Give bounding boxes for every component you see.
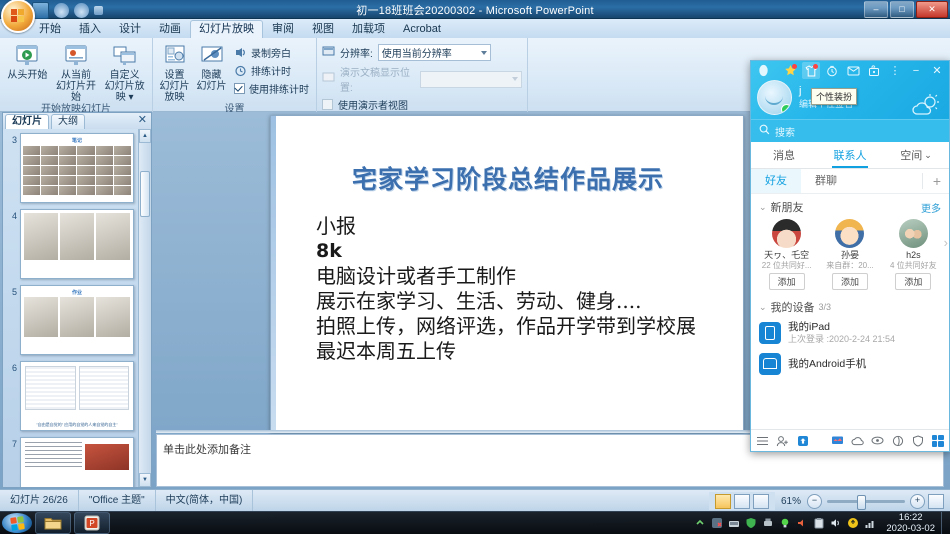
list-item[interactable]: 我的Android手机 — [751, 349, 949, 379]
tab-home[interactable]: 开始 — [30, 20, 70, 38]
from-current-label-1: 从当前 — [61, 70, 91, 81]
show-desktop-button[interactable] — [941, 512, 950, 534]
current-slide[interactable]: 宅家学习阶段总结作品展示 小报 8k 电脑设计或者手工制作 展示在家学习、生活、… — [270, 115, 744, 432]
slide-body[interactable]: 小报 8k 电脑设计或者手工制作 展示在家学习、生活、劳动、健身.... 拍照上… — [316, 214, 743, 364]
powerpoint-icon: P — [84, 515, 100, 531]
tab-design[interactable]: 设计 — [110, 20, 150, 38]
chevron-down-icon: ⌄ — [924, 150, 932, 161]
qq-header: ⋮ − ✕ j 编辑个性签名 个性装扮 — [751, 61, 949, 119]
new-friends-cards: 天ヮ、乇空 22 位共同好... 添加 孙晏 来自群：20... 添加 h2s … — [751, 217, 949, 290]
device-name: 我的iPad — [788, 321, 895, 334]
slides-pane-tabs: 幻灯片 大纲 ✕ — [3, 113, 151, 129]
reading-view-button[interactable] — [753, 494, 769, 509]
dress-up-badge — [813, 64, 818, 69]
from-current-slide-icon — [63, 44, 89, 68]
normal-view-button[interactable] — [715, 494, 731, 509]
thumb-image-row — [21, 210, 133, 263]
antivirus-icon[interactable] — [711, 517, 723, 529]
use-rehearsed-timings-checkbox[interactable] — [234, 83, 245, 94]
slide-counter[interactable]: 幻灯片 26/26 — [0, 490, 79, 512]
section-title-my-devices: 我的设备 — [771, 299, 815, 315]
tab-review[interactable]: 审阅 — [263, 20, 303, 38]
subtab-groups[interactable]: 群聊 — [801, 169, 851, 193]
cloud-icon[interactable] — [851, 434, 864, 447]
friend-name: 天ヮ、乇空 — [756, 250, 817, 261]
tab-addins[interactable]: 加载项 — [343, 20, 394, 38]
status-bar: 幻灯片 26/26 "Office 主题" 中文(简体，中国) 61% − + — [0, 489, 950, 512]
zoom-in-button[interactable]: + — [910, 494, 925, 509]
list-item[interactable]: 4 — [5, 209, 137, 279]
signal-icon[interactable] — [864, 517, 876, 529]
slide-thumbnail[interactable]: 作业 — [20, 285, 134, 355]
scroll-up-icon[interactable]: ▲ — [139, 129, 151, 143]
show-hidden-icon[interactable] — [694, 517, 706, 529]
thumb-caption: "自由是自觉的" 应用的自觉的人来自觉的自主" — [21, 422, 133, 428]
thumb-title: 笔记 — [21, 134, 133, 144]
zoom-level[interactable]: 61% — [775, 496, 807, 507]
search-input[interactable]: 搜索 — [775, 124, 795, 139]
tab-messages[interactable]: 消息 — [751, 142, 817, 168]
zoom-slider[interactable] — [827, 500, 905, 503]
rehearse-timings-icon — [234, 64, 247, 77]
menu-icon[interactable] — [756, 434, 769, 447]
game-icon[interactable] — [891, 434, 904, 447]
device-count: 3/3 — [819, 302, 832, 312]
add-friend-button[interactable]: 添加 — [895, 273, 931, 290]
chevron-down-icon: ⌄ — [759, 202, 767, 213]
show-presentation-on-label: 演示文稿显示位置: — [340, 64, 415, 94]
resolution-value: 使用当前分辨率 — [382, 45, 452, 60]
rehearse-timings-item[interactable]: 排练计时 — [234, 63, 309, 78]
slide-thumbnail[interactable] — [20, 209, 134, 279]
search-bar[interactable]: 搜索 — [751, 119, 949, 142]
add-friend-button[interactable]: 添加 — [769, 273, 805, 290]
hide-slide-icon — [199, 44, 225, 68]
gift-icon[interactable] — [865, 62, 883, 79]
rehearse-timings-label: 排练计时 — [251, 63, 291, 78]
subtab-friends[interactable]: 好友 — [751, 169, 801, 193]
pane-tab-outline[interactable]: 大纲 — [51, 114, 85, 129]
scroll-down-icon[interactable]: ▼ — [139, 473, 151, 487]
device-info: 我的Android手机 — [788, 358, 866, 371]
friend-desc: 4 位共同好友 — [883, 261, 944, 271]
add-contact-button[interactable]: + — [922, 173, 941, 189]
fit-slide-button[interactable] — [928, 494, 944, 509]
thumb-image-row — [21, 296, 133, 340]
custom-show-label-2: 幻灯片放映 ▾ — [105, 81, 145, 103]
taskbar-item-powerpoint[interactable]: P — [74, 512, 110, 534]
star-icon[interactable] — [781, 62, 799, 79]
thumb-number: 3 — [5, 133, 20, 145]
close-button[interactable]: ✕ — [916, 1, 948, 18]
svg-text:P: P — [89, 519, 94, 528]
qq-main-tabs: 消息 联系人 空间 ⌄ — [751, 142, 949, 169]
window-title: 初一18班班会20200302 - Microsoft PowerPoint — [0, 2, 950, 18]
maximize-button[interactable]: □ — [890, 1, 914, 18]
device-name: 我的Android手机 — [788, 358, 866, 371]
slide-sorter-button[interactable] — [734, 494, 750, 509]
hide-slide-button[interactable]: 隐藏 幻灯片 — [195, 42, 228, 92]
custom-show-icon — [112, 44, 138, 68]
security-icon[interactable] — [745, 517, 757, 529]
tablet-icon — [759, 322, 781, 344]
qq-titlebar: ⋮ − ✕ — [751, 61, 949, 80]
tooltip: 个性装扮 — [811, 88, 857, 105]
qq-window: ⋮ − ✕ j 编辑个性签名 个性装扮 搜索 消息 联系人 空间 ⌄ — [750, 60, 950, 452]
qq-profile[interactable]: j 编辑个性签名 个性装扮 — [751, 80, 949, 115]
from-beginning-icon — [14, 44, 40, 68]
slide-line-1: 小报 — [316, 214, 743, 239]
tab-slideshow[interactable]: 幻灯片放映 — [190, 20, 263, 38]
presenter-view-label: 使用演示者视图 — [338, 97, 408, 112]
section-header-new-friends[interactable]: ⌄ 新朋友 更多 — [751, 194, 949, 217]
slide-thumbnail-list[interactable]: 3 笔记 4 — [3, 129, 139, 487]
show-presentation-on-combo[interactable] — [420, 71, 523, 88]
avatar[interactable] — [772, 219, 801, 248]
resolution-combo[interactable]: 使用当前分辨率 — [378, 44, 491, 61]
slide-title[interactable]: 宅家学习阶段总结作品展示 — [283, 160, 733, 196]
star-badge — [792, 64, 797, 69]
chevron-down-icon-disabled — [512, 77, 518, 81]
tab-animations[interactable]: 动画 — [150, 20, 190, 38]
list-item[interactable]: 我的iPad 上次登录 :2020-2-24 21:54 — [751, 317, 949, 349]
clock-time: 16:22 — [886, 512, 935, 523]
start-from-current-button[interactable]: 从当前 幻灯片开始 — [54, 42, 99, 103]
thumb-table — [21, 362, 133, 414]
thumb-title: 作业 — [21, 286, 133, 296]
system-tray — [694, 517, 880, 529]
avatar[interactable] — [757, 80, 792, 115]
search-icon — [759, 124, 770, 138]
clock[interactable]: 16:22 2020-03-02 — [880, 512, 941, 534]
printer-icon[interactable] — [762, 517, 774, 529]
hide-slide-label-2: 幻灯片 — [197, 81, 227, 92]
list-item[interactable]: 3 笔记 — [5, 133, 137, 203]
tab-view[interactable]: 视图 — [303, 20, 343, 38]
customize-icon[interactable] — [94, 6, 103, 15]
tab-contacts[interactable]: 联系人 — [817, 142, 883, 168]
clock-icon[interactable] — [823, 62, 841, 79]
presenter-view-row[interactable]: 使用演示者视图 — [322, 97, 522, 112]
chevron-right-icon[interactable]: › — [944, 235, 948, 250]
add-friend-button[interactable]: 添加 — [832, 273, 868, 290]
slide-line-4: 展示在家学习、生活、劳动、健身.... — [316, 289, 743, 314]
thumb-number: 7 — [5, 437, 20, 449]
resolution-icon — [322, 45, 335, 61]
add-friend-icon[interactable] — [776, 434, 789, 447]
clock-date: 2020-03-02 — [886, 523, 935, 534]
resolution-row: 分辨率: 使用当前分辨率 — [322, 44, 522, 61]
setup-show-label-2: 幻灯片放映 — [160, 81, 190, 103]
record-narration-item[interactable]: 录制旁白 — [234, 45, 309, 60]
slide-thumbnail[interactable] — [20, 437, 134, 487]
tab-insert[interactable]: 插入 — [70, 20, 110, 38]
use-rehearsed-timings-label: 使用排练计时 — [249, 81, 309, 96]
thumb-number: 5 — [5, 285, 20, 297]
list-item[interactable]: 天ヮ、乇空 22 位共同好... 添加 — [755, 219, 818, 290]
thumb-number: 6 — [5, 361, 20, 373]
setup-slideshow-button[interactable]: 设置 幻灯片放映 — [158, 42, 191, 103]
volume-mute-icon[interactable] — [796, 517, 808, 529]
qq-minimize-button[interactable]: − — [907, 62, 925, 79]
network-icon[interactable] — [728, 517, 740, 529]
view-buttons — [709, 492, 775, 510]
slides-pane-scrollbar[interactable]: ▲ ▼ — [138, 129, 151, 487]
friend-name: 孙晏 — [819, 250, 880, 261]
section-title-new-friends: 新朋友 — [771, 199, 804, 215]
qq-footer — [751, 429, 949, 451]
presenter-view-checkbox[interactable] — [322, 99, 333, 110]
redo-icon[interactable] — [74, 3, 89, 18]
ribbon-group-setup: 设置 幻灯片放映 隐藏 幻灯片 录制旁白 — [152, 38, 316, 113]
slide-line-6: 最迟本周五上传 — [316, 339, 743, 364]
mail-icon[interactable] — [844, 62, 862, 79]
title-bar: 初一18班班会20200302 - Microsoft PowerPoint –… — [0, 0, 950, 19]
slide-line-5: 拍照上传，网络评选，作品开学带到学校展 — [316, 314, 743, 339]
weather-icon[interactable] — [911, 94, 941, 120]
list-item[interactable]: 6 "自由是自觉的" 应用的自觉的人来自觉的自主" — [5, 361, 137, 431]
slide-thumbnail[interactable]: "自由是自觉的" 应用的自觉的人来自觉的自主" — [20, 361, 134, 431]
ribbon-tabs: 开始 插入 设计 动画 幻灯片放映 审阅 视图 加载项 Acrobat — [0, 19, 950, 38]
theme-name[interactable]: "Office 主题" — [79, 490, 156, 512]
more-link[interactable]: 更多 — [921, 200, 941, 215]
volume-icon[interactable] — [830, 517, 842, 529]
phone-icon — [759, 353, 781, 375]
device-info: 我的iPad 上次登录 :2020-2-24 21:54 — [788, 321, 895, 345]
avatar[interactable] — [899, 219, 928, 248]
list-item[interactable]: h2s 4 位共同好友 添加 — [882, 219, 945, 290]
custom-slideshow-button[interactable]: 自定义 幻灯片放映 ▾ — [102, 42, 147, 103]
taskbar: P 16:22 2020-03-02 — [0, 511, 950, 534]
live-icon[interactable] — [831, 434, 844, 447]
use-rehearsed-timings-item[interactable]: 使用排练计时 — [234, 81, 309, 96]
ribbon-group-monitors: 分辨率: 使用当前分辨率 演示文稿显示位置: — [316, 38, 527, 113]
clipboard-icon[interactable] — [813, 517, 825, 529]
setup-show-icon — [162, 44, 188, 68]
shield-icon[interactable] — [911, 434, 924, 447]
slide-thumbnail[interactable]: 笔记 — [20, 133, 134, 203]
music-icon[interactable] — [871, 434, 884, 447]
list-item[interactable]: 孙晏 来自群：20... 添加 — [818, 219, 881, 290]
tab-zone[interactable]: 空间 ⌄ — [883, 142, 949, 168]
windows-logo-icon — [10, 516, 25, 531]
online-status-dot — [781, 104, 792, 115]
resolution-label: 分辨率: — [340, 45, 373, 60]
friend-name: h2s — [883, 250, 944, 261]
friend-desc: 来自群：20... — [819, 261, 880, 271]
chevron-down-icon — [481, 51, 487, 55]
start-from-beginning-button[interactable]: 从头开始 — [5, 42, 50, 81]
windows-start-button[interactable] — [2, 513, 32, 533]
qq-close-button[interactable]: ✕ — [928, 62, 946, 79]
dress-up-icon[interactable] — [802, 62, 820, 79]
minimize-button[interactable]: – — [864, 1, 888, 18]
zoom-slider-handle[interactable] — [857, 495, 866, 510]
thumb-article — [21, 438, 133, 474]
slides-pane: 幻灯片 大纲 ✕ 3 笔记 — [2, 112, 152, 488]
from-beginning-label: 从头开始 — [7, 70, 47, 81]
pane-tab-slides[interactable]: 幻灯片 — [5, 114, 49, 129]
show-on-monitor-icon — [322, 71, 335, 87]
slide-line-3: 电脑设计或者手工制作 — [316, 264, 743, 289]
from-current-label-2: 幻灯片开始 — [56, 81, 96, 103]
list-item[interactable]: 5 作业 — [5, 285, 137, 355]
folder-explorer-icon — [44, 516, 62, 530]
app-store-icon[interactable] — [796, 434, 809, 447]
undo-icon[interactable] — [54, 3, 69, 18]
section-header-my-devices[interactable]: ⌄ 我的设备 3/3 — [751, 294, 949, 317]
apps-grid-icon[interactable] — [931, 434, 944, 447]
ribbon-group-start-show: 从头开始 从当前 幻灯片开始 自定义 幻灯片放映 ▾ 开始放映幻 — [0, 38, 152, 113]
tab-zone-label: 空间 — [900, 147, 922, 163]
setup-show-label-1: 设置 — [165, 70, 185, 81]
qq-penguin-icon[interactable] — [754, 62, 772, 79]
lamp-icon[interactable] — [779, 517, 791, 529]
qq-contact-subtabs: 好友 群聊 + — [751, 169, 949, 194]
friend-desc: 22 位共同好... — [756, 261, 817, 271]
record-narration-icon — [234, 46, 247, 59]
show-presentation-on-row: 演示文稿显示位置: — [322, 64, 522, 94]
custom-show-label-1: 自定义 — [110, 70, 140, 81]
slide-line-2: 8k — [316, 239, 743, 264]
thumb-number: 4 — [5, 209, 20, 221]
close-pane-icon[interactable]: ✕ — [138, 114, 147, 126]
list-item[interactable]: 7 — [5, 437, 137, 487]
window-controls: – □ ✕ — [864, 1, 948, 18]
thumb-image-grid — [21, 144, 133, 197]
tab-acrobat[interactable]: Acrobat — [394, 20, 450, 38]
record-narration-label: 录制旁白 — [251, 45, 291, 60]
language-indicator[interactable]: 中文(简体，中国) — [156, 490, 254, 512]
hide-slide-label-1: 隐藏 — [202, 70, 222, 81]
setup-small-commands: 录制旁白 排练计时 使用排练计时 — [232, 42, 311, 96]
more-icon[interactable]: ⋮ — [886, 62, 904, 79]
chevron-down-icon: ⌄ — [759, 302, 767, 313]
avatar[interactable] — [835, 219, 864, 248]
taskbar-item-explorer[interactable] — [35, 512, 71, 534]
device-last-login: 上次登录 :2020-2-24 21:54 — [788, 334, 895, 345]
scrollbar-thumb[interactable] — [140, 171, 150, 217]
office-button[interactable] — [1, 0, 35, 33]
zoom-out-button[interactable]: − — [807, 494, 822, 509]
update-icon[interactable] — [847, 517, 859, 529]
